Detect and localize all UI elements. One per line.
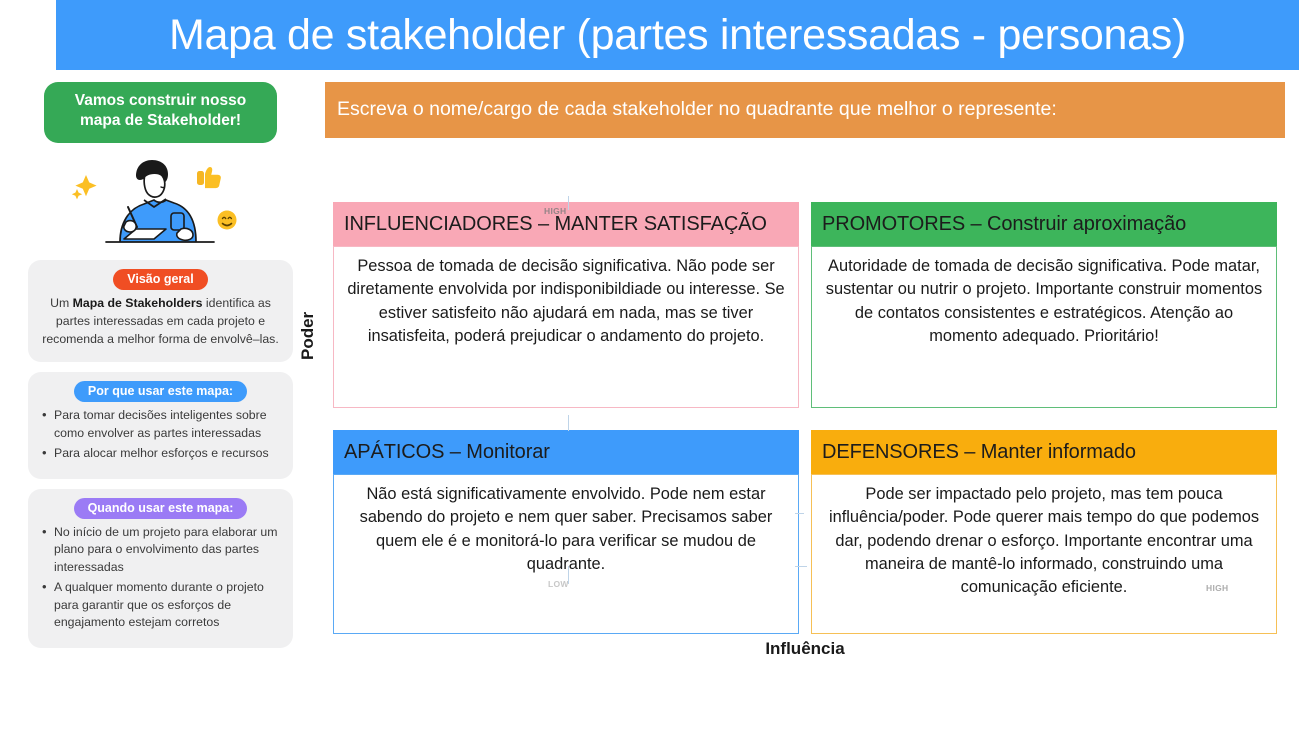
why-card: Por que usar este mapa: Para tomar decis…	[28, 372, 293, 479]
guide-tick	[568, 415, 569, 431]
overview-chip: Visão geral	[113, 269, 207, 290]
axis-label-poder: Poder	[298, 312, 318, 360]
guide-tick	[795, 513, 804, 514]
instruction-text: Escreva o nome/cargo de cada stakeholder…	[337, 99, 1057, 120]
quadrant-apaticos[interactable]: APÁTICOS – Monitorar Não está significat…	[333, 430, 799, 634]
list-item: No início de um projeto para elaborar um…	[40, 524, 281, 576]
stakeholder-matrix: INFLUENCIADORES – MANTER SATISFAÇÃO Pess…	[333, 202, 1277, 634]
why-chip: Por que usar este mapa:	[74, 381, 247, 402]
guide-tick	[795, 566, 807, 567]
sidebar: Vamos construir nosso mapa de Stakeholde…	[28, 82, 293, 722]
sidebar-cta-banner: Vamos construir nosso mapa de Stakeholde…	[44, 82, 277, 143]
why-list: Para tomar decisões inteligentes sobre c…	[40, 407, 281, 462]
guide-tick	[568, 566, 569, 584]
overview-text-lead: Um	[50, 296, 73, 310]
sidebar-cta-label: Vamos construir nosso mapa de Stakeholde…	[58, 91, 263, 132]
page-title: Mapa de stakeholder (partes interessadas…	[169, 14, 1186, 57]
instruction-banner: Escreva o nome/cargo de cada stakeholder…	[325, 82, 1285, 138]
guide-tick	[568, 196, 569, 210]
quadrant-header-influenciadores: INFLUENCIADORES – MANTER SATISFAÇÃO	[333, 202, 799, 246]
slide-canvas: Mapa de stakeholder (partes interessadas…	[0, 0, 1299, 731]
when-chip: Quando usar este mapa:	[74, 498, 248, 519]
quadrant-header-defensores: DEFENSORES – Manter informado	[811, 430, 1277, 474]
quadrant-body-influenciadores[interactable]: Pessoa de tomada de decisão significativ…	[333, 246, 799, 408]
quadrant-promotores[interactable]: PROMOTORES – Construir aproximação Autor…	[811, 202, 1277, 408]
quadrant-body-apaticos[interactable]: Não está significativamente envolvido. P…	[333, 474, 799, 634]
list-item: Para tomar decisões inteligentes sobre c…	[40, 407, 281, 442]
overview-text-bold: Mapa de Stakeholders	[73, 296, 203, 310]
list-item: A qualquer momento durante o projeto par…	[40, 579, 281, 631]
quadrant-header-apaticos: APÁTICOS – Monitorar	[333, 430, 799, 474]
quadrant-body-defensores[interactable]: Pode ser impactado pelo projeto, mas tem…	[811, 474, 1277, 634]
list-item: Para alocar melhor esforços e recursos	[40, 445, 281, 462]
quadrant-header-promotores: PROMOTORES – Construir aproximação	[811, 202, 1277, 246]
axis-label-influencia: Influência	[333, 639, 1277, 659]
when-list: No início de um projeto para elaborar um…	[40, 524, 281, 632]
person-writing-illustration	[44, 147, 277, 250]
overview-text: Um Mapa de Stakeholders identifica as pa…	[40, 295, 281, 348]
page-title-banner: Mapa de stakeholder (partes interessadas…	[56, 0, 1299, 70]
overview-card: Visão geral Um Mapa de Stakeholders iden…	[28, 260, 293, 362]
quadrant-defensores[interactable]: DEFENSORES – Manter informado Pode ser i…	[811, 430, 1277, 634]
quadrant-body-promotores[interactable]: Autoridade de tomada de decisão signific…	[811, 246, 1277, 408]
when-card: Quando usar este mapa: No início de um p…	[28, 489, 293, 648]
quadrant-influenciadores[interactable]: INFLUENCIADORES – MANTER SATISFAÇÃO Pess…	[333, 202, 799, 408]
